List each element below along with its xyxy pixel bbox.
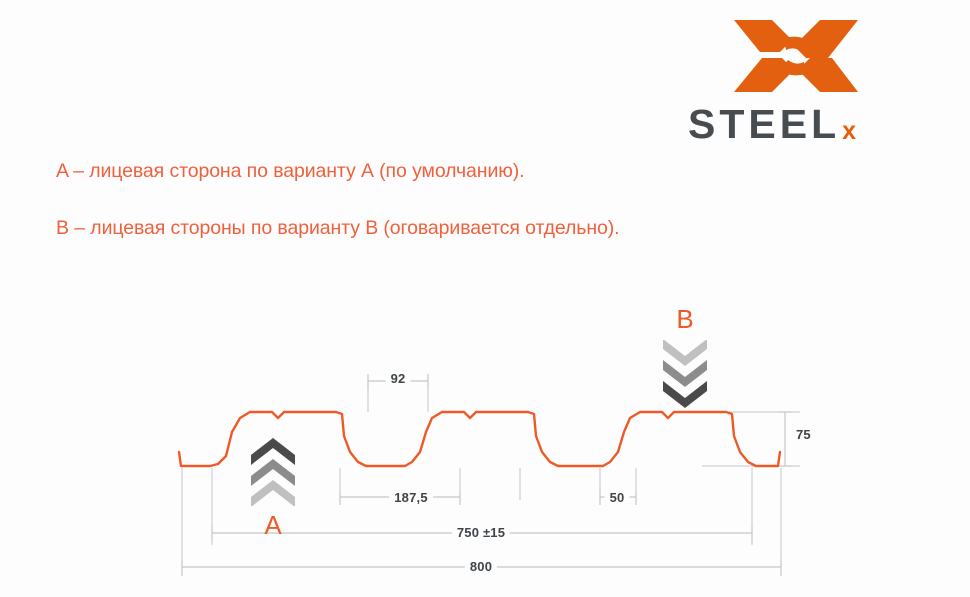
chevron-up-stack-icon — [249, 438, 297, 506]
side-marker-a: A — [246, 438, 300, 538]
dimension-label-92: 92 — [386, 371, 411, 386]
side-marker-b: B — [658, 306, 712, 408]
dimension-label-75: 75 — [791, 427, 816, 442]
dimension-label-800: 800 — [465, 559, 497, 574]
profile-technical-drawing — [0, 0, 970, 597]
marker-a-letter: A — [246, 512, 300, 538]
dimension-label-750: 750 ±15 — [452, 525, 510, 540]
chevron-down-stack-icon — [661, 340, 709, 408]
dimension-label-1875: 187,5 — [389, 490, 433, 505]
dimension-label-50: 50 — [605, 490, 630, 505]
marker-b-letter: B — [658, 306, 712, 332]
